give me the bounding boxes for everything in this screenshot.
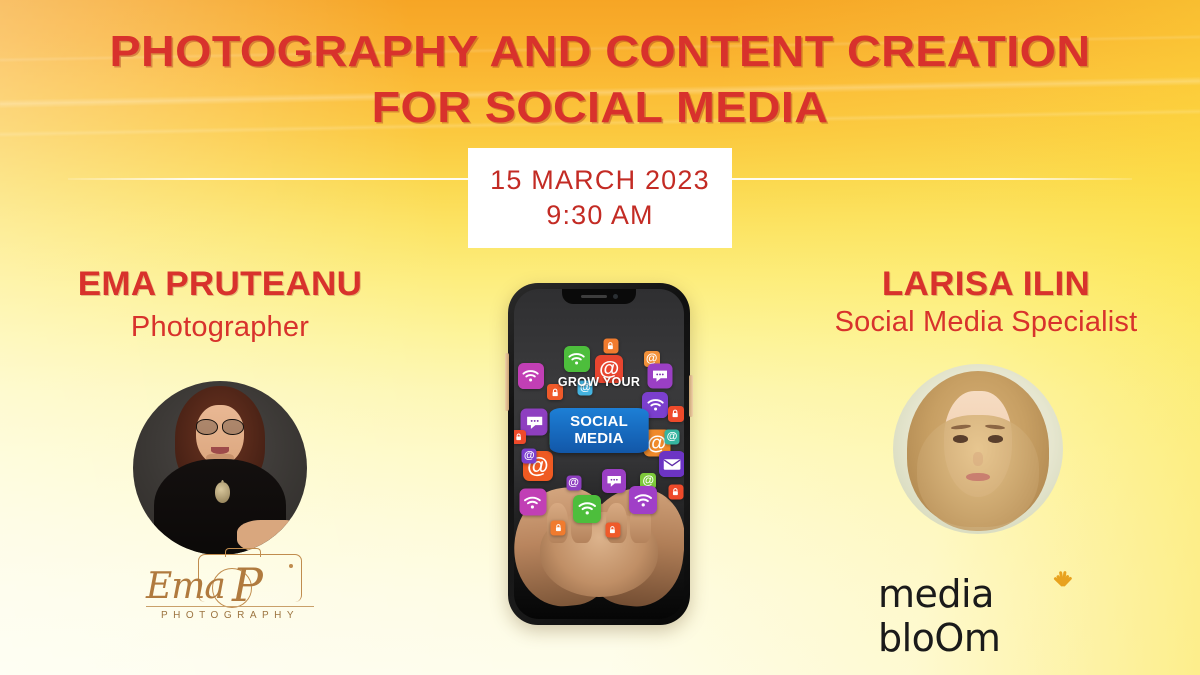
at-icon: @ xyxy=(566,476,581,491)
chat-icon xyxy=(602,469,626,493)
avatar-right xyxy=(893,364,1063,534)
logo-media-bloom: media bloOm xyxy=(878,566,1106,622)
logo-ema-photography: Ema P PHOTOGRAPHY xyxy=(140,552,320,630)
logo-rule xyxy=(146,606,314,607)
card-line-media: MEDIA xyxy=(554,430,645,447)
wifi-icon xyxy=(519,489,546,516)
event-time: 9:30 AM xyxy=(546,200,653,231)
date-time-box: 15 MARCH 2023 9:30 AM xyxy=(468,148,732,248)
card-line-social: SOCIAL xyxy=(554,413,645,430)
front-camera-icon xyxy=(613,294,618,299)
speaker-role-right: Social Media Specialist xyxy=(776,306,1196,339)
smartphone-graphic: @@@@@@@@@@ GROW YOUR SOCIAL MEDIA xyxy=(508,283,690,625)
lock-icon xyxy=(514,430,526,444)
lock-icon xyxy=(603,339,618,354)
portrait-pendant xyxy=(215,482,231,503)
wifi-icon xyxy=(573,495,601,523)
page-title: PHOTOGRAPHY AND CONTENT CREATION FOR SOC… xyxy=(0,24,1200,137)
logo-script-text: Ema xyxy=(146,566,225,607)
grow-your-label: GROW YOUR xyxy=(558,375,640,389)
speaker-block-right: LARISA ILIN Social Media Specialist xyxy=(776,265,1196,339)
at-icon: @ xyxy=(522,448,537,463)
wifi-icon xyxy=(564,346,590,372)
speaker-grill-icon xyxy=(581,295,607,298)
phone-screen: @@@@@@@@@@ GROW YOUR SOCIAL MEDIA xyxy=(514,289,684,619)
social-media-card: SOCIAL MEDIA xyxy=(550,408,649,453)
phone-notch xyxy=(562,289,636,304)
at-icon: @ xyxy=(665,429,680,444)
phone-volume-button xyxy=(505,353,509,411)
mail-icon xyxy=(659,451,684,477)
phone-power-button xyxy=(689,375,693,417)
portrait-mouth xyxy=(966,473,990,482)
portrait-mouth xyxy=(211,447,228,454)
logo-initial-text: P xyxy=(232,558,263,612)
event-date: 15 MARCH 2023 xyxy=(490,165,710,196)
sun-rays-icon xyxy=(1036,560,1090,586)
portrait-eye xyxy=(953,435,968,443)
speaker-name-left: EMA PRUTEANU xyxy=(2,265,439,304)
chat-icon xyxy=(648,363,673,388)
speaker-name-right: LARISA ILIN xyxy=(770,265,1200,304)
lock-icon xyxy=(668,484,683,499)
lock-icon xyxy=(551,520,566,535)
speaker-role-left: Photographer xyxy=(8,311,432,344)
avatar-left xyxy=(133,381,307,555)
lock-icon xyxy=(668,406,684,422)
portrait-arm xyxy=(237,520,296,551)
lock-icon xyxy=(605,522,620,537)
wifi-icon xyxy=(518,363,544,389)
speaker-block-left: EMA PRUTEANU Photographer xyxy=(8,265,432,344)
portrait-nose xyxy=(973,452,983,466)
wifi-icon xyxy=(629,486,657,514)
eyeglasses-icon xyxy=(196,419,245,433)
logo-subtitle: PHOTOGRAPHY xyxy=(146,610,314,621)
